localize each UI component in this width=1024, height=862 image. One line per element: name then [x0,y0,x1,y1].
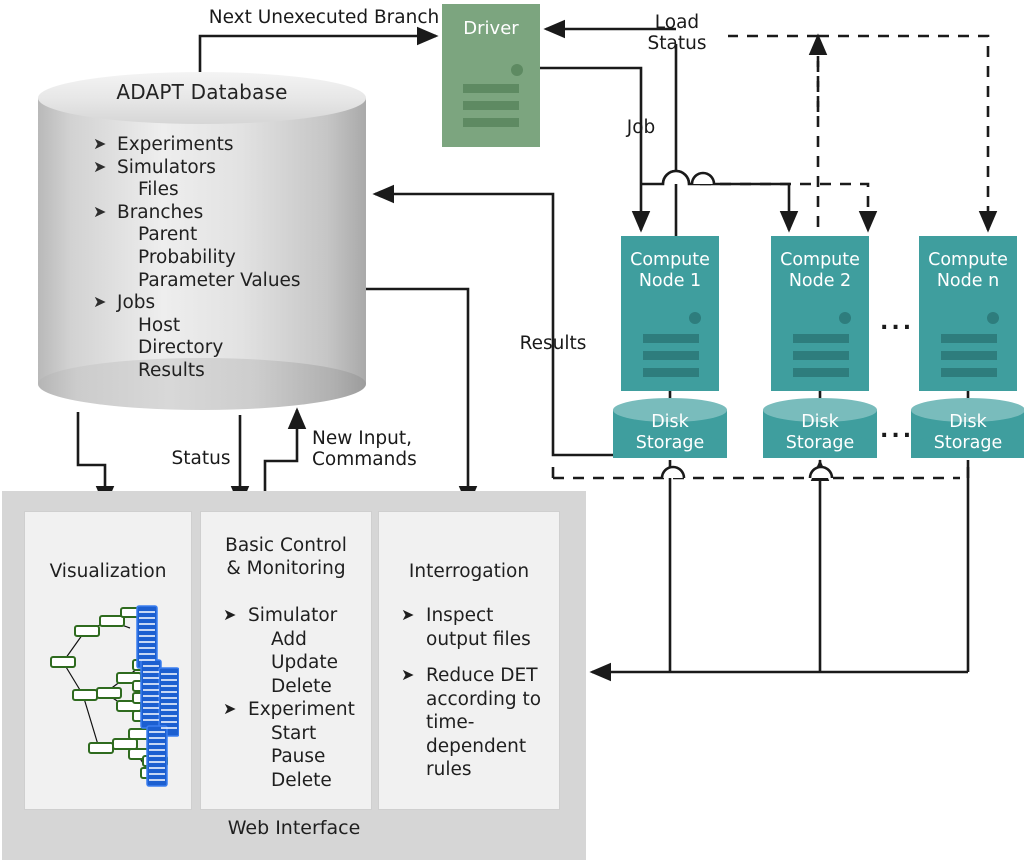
panel-title: Visualization [25,560,191,583]
driver-bar-icon [463,118,519,127]
list-item: Update [223,651,368,675]
node-bar-icon [941,334,997,343]
node-bar-icon [941,368,997,377]
list-item: Delete [223,675,368,699]
wire-hop-4 [810,467,832,478]
list-item: Probability [93,247,363,270]
node-bar-icon [793,351,849,360]
wire-job-to-node1 [540,68,641,230]
disk-storage-n[interactable]: Disk Storage [911,398,1024,465]
bullet-arrow-icon: ➤ [223,697,236,721]
list-item-label: Experiments [117,134,234,155]
node-bar-icon [941,351,997,360]
edge-label-load-status: Load Status [636,12,718,54]
edge-label-results: Results [505,333,601,354]
node-bar-icon [643,334,699,343]
driver-bar-icon [463,101,519,110]
list-item: Pause [223,745,368,769]
list-item: Files [93,179,363,202]
list-item: ➤Inspect output files [401,604,551,651]
wire-job-dashed-to-noden [700,184,868,230]
bullet-arrow-icon: ➤ [93,133,106,156]
node-bar-icon [643,351,699,360]
node-bar-icon [643,368,699,377]
bullet-arrow-icon: ➤ [401,663,414,687]
bullet-arrow-icon: ➤ [93,201,106,224]
panel-title: Interrogation [379,560,559,583]
list-item: ➤Experiment [223,698,368,722]
disk-label: Disk Storage [613,412,727,454]
list-item: Directory [93,337,363,360]
compute-node-n[interactable]: Compute Node n [919,236,1017,391]
list-item: ➤Simulator [223,604,368,628]
panel-interrogation[interactable]: Interrogation ➤Inspect output files➤Redu… [378,511,560,810]
list-item: Results [93,360,363,383]
node-status-dot-icon [987,312,999,324]
list-item: Delete [223,769,368,793]
list-item: Parameter Values [93,270,363,293]
edge-label-job: Job [608,117,674,138]
wire-hop-3 [662,467,684,478]
disk-storage-1[interactable]: Disk Storage [613,398,727,465]
list-item-label: Simulators [117,157,216,178]
bullet-arrow-icon: ➤ [401,603,414,627]
edge-label-new-input-commands: New Input, Commands [312,428,442,470]
disk-label: Disk Storage [763,412,877,454]
panel-visualization[interactable]: Visualization [24,511,192,810]
bullet-arrow-icon: ➤ [93,156,106,179]
list-item-label: Inspect output files [426,605,531,650]
list-item: Parent [93,224,363,247]
driver-bar-icon [463,84,519,93]
web-interface-group: Visualization [2,491,586,860]
database-field-list: ➤Experiments➤SimulatorsFiles➤BranchesPar… [93,134,363,383]
wire-database-to-interrogation [366,289,468,505]
web-interface-caption: Web Interface [2,817,586,839]
node-bar-icon [793,368,849,377]
nodes-ellipsis: ... [880,310,914,335]
bullet-arrow-icon: ➤ [93,291,106,314]
node-bar-icon [793,334,849,343]
list-item: ➤Simulators [93,157,363,180]
panel-basic-control[interactable]: Basic Control & Monitoring ➤SimulatorAdd… [200,511,372,810]
wire-hop-2 [692,173,714,184]
bullet-arrow-icon: ➤ [223,603,236,627]
wire-loadstatus-dashed-noden [818,36,988,230]
compute-node-label: Compute Node n [919,250,1017,292]
compute-node-1[interactable]: Compute Node 1 [621,236,719,391]
compute-node-2[interactable]: Compute Node 2 [771,236,869,391]
database-title: ADAPT Database [38,80,366,104]
list-item: Host [93,315,363,338]
disk-label: Disk Storage [911,412,1024,454]
node-status-dot-icon [839,312,851,324]
wire-job-bus-to-node2 [641,171,789,230]
adapt-database-cylinder[interactable]: ADAPT Database ➤Experiments➤SimulatorsFi… [38,72,366,410]
disk-storage-2[interactable]: Disk Storage [763,398,877,465]
diagram-canvas: ADAPT Database ➤Experiments➤SimulatorsFi… [0,0,1024,862]
list-item: Start [223,722,368,746]
edge-label-next-unexecuted-branch: Next Unexecuted Branch [204,7,444,28]
basic-control-list: ➤SimulatorAddUpdateDelete➤ExperimentStar… [223,604,368,792]
list-item-label: Reduce DET according to time-dependent r… [426,665,541,780]
det-tree-thumbnail [37,598,179,793]
list-item-label: Branches [117,202,203,223]
interrogation-list: ➤Inspect output files➤Reduce DET accordi… [401,604,551,795]
list-item-label: Simulator [248,605,337,626]
node-status-dot-icon [689,312,701,324]
wire-hop-1 [663,171,689,184]
driver-status-dot-icon [511,64,523,76]
driver-label: Driver [442,18,540,39]
list-item: Add [223,628,368,652]
list-item-label: Experiment [248,699,355,720]
panel-title: Basic Control & Monitoring [201,534,371,580]
edge-label-status: Status [158,448,244,469]
list-item: ➤Reduce DET according to time-dependent … [401,664,551,782]
compute-node-label: Compute Node 1 [621,250,719,292]
list-item: ➤Jobs [93,292,363,315]
list-item: ➤Branches [93,202,363,225]
compute-node-label: Compute Node 2 [771,250,869,292]
list-item-label: Jobs [117,292,155,313]
list-item: ➤Experiments [93,134,363,157]
driver-box[interactable]: Driver [442,4,540,147]
disks-ellipsis: ... [880,418,914,443]
